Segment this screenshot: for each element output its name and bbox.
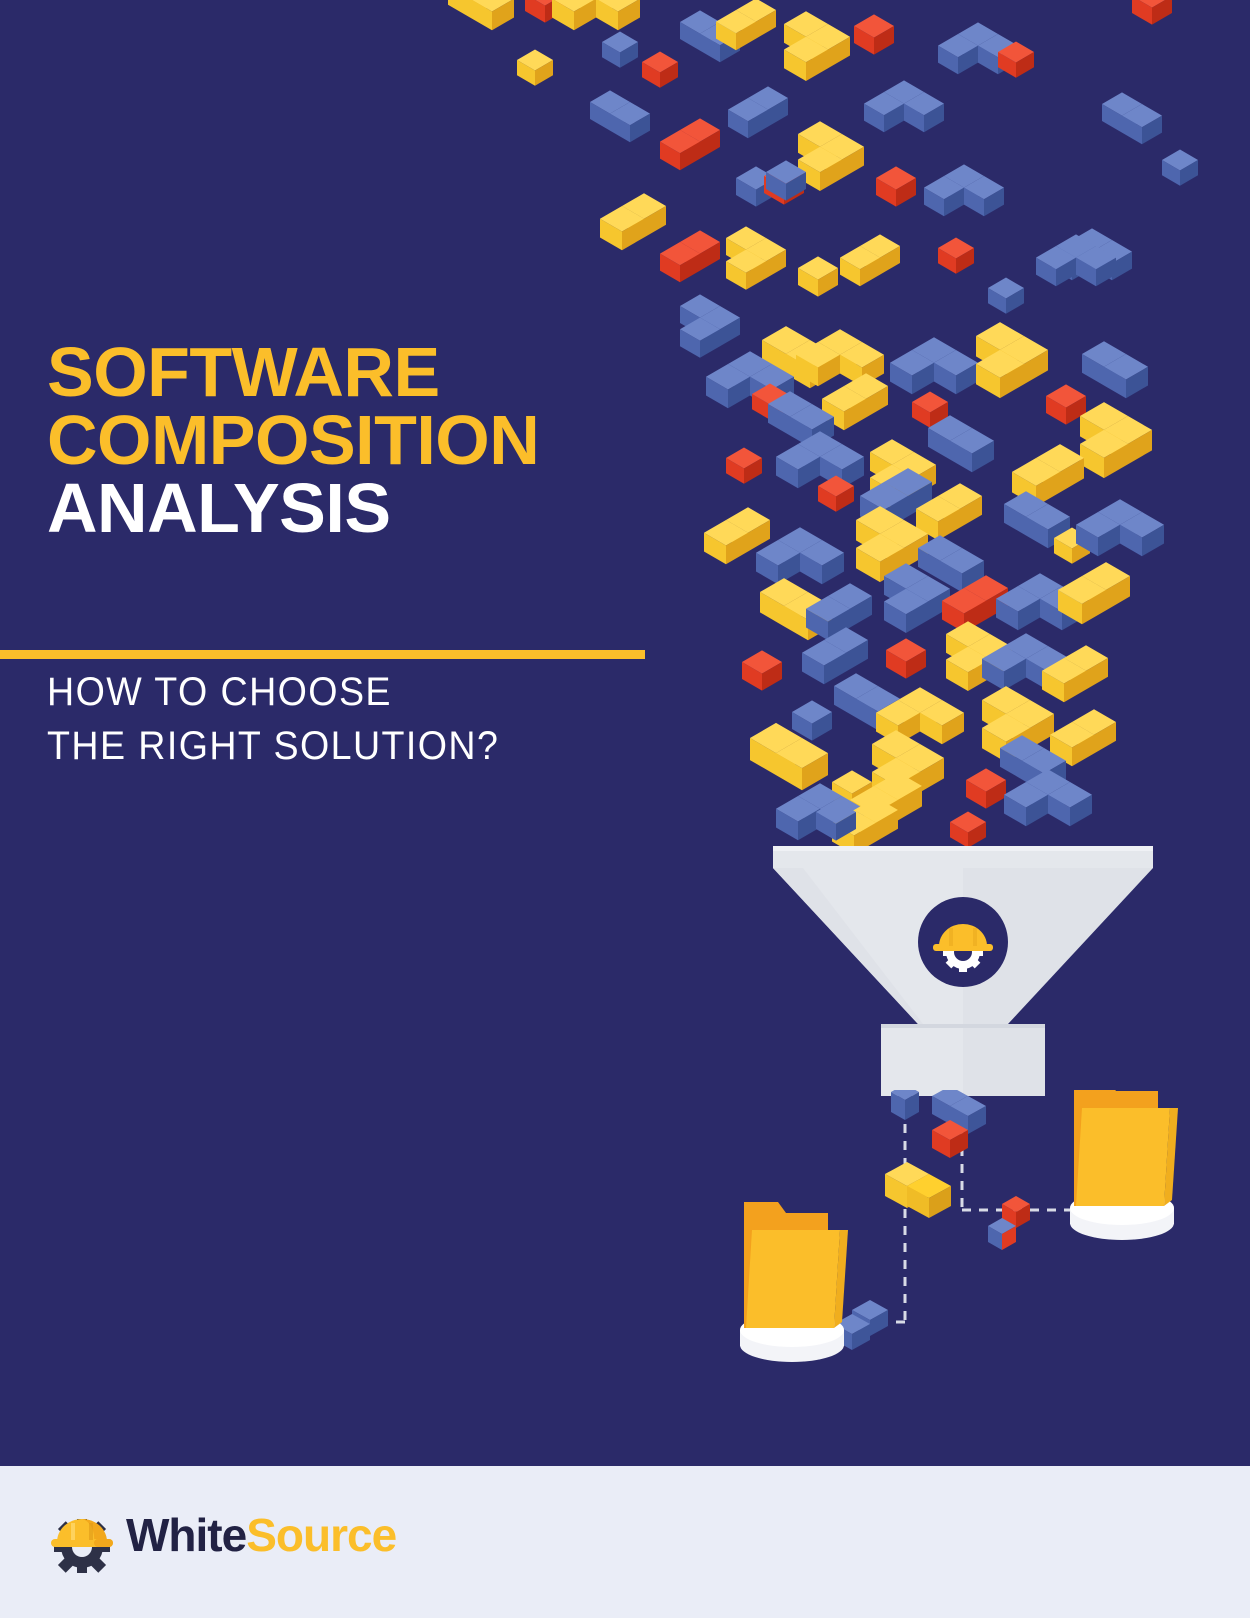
iso-block: [942, 575, 1008, 632]
iso-block: [834, 673, 900, 730]
iso-block: [660, 230, 720, 282]
iso-block: [884, 563, 950, 633]
iso-block: [802, 627, 868, 684]
subtitle-line-2: THE RIGHT SOLUTION?: [47, 719, 649, 773]
iso-block: [706, 351, 794, 408]
iso-block: [928, 415, 994, 472]
iso-block: [1102, 92, 1162, 144]
iso-block: [600, 193, 666, 250]
iso-block: [872, 730, 944, 806]
iso-block: [680, 10, 740, 62]
iso-block: [840, 234, 900, 286]
iso-block: [798, 121, 864, 191]
iso-block: [1004, 491, 1070, 548]
document-page: SOFTWARE COMPOSITION ANALYSIS HOW TO CHO…: [0, 0, 1250, 1618]
iso-block: [976, 322, 1048, 398]
funnel-illustration: [773, 846, 1153, 1096]
iso-block: [1004, 769, 1092, 826]
iso-block: [602, 32, 638, 68]
iso-block: [864, 80, 944, 132]
iso-block: [742, 650, 782, 690]
iso-block: [764, 164, 804, 204]
iso-block: [950, 812, 986, 848]
iso-block: [924, 164, 1004, 216]
iso-block: [982, 686, 1054, 762]
iso-block: [982, 633, 1070, 690]
iso-block: [1050, 709, 1116, 766]
iso-block: [818, 476, 854, 512]
iso-block: [886, 638, 926, 678]
iso-block: [792, 700, 832, 740]
logo-word-white: White: [126, 1509, 246, 1561]
iso-block: [850, 772, 922, 834]
iso-block: [1076, 499, 1164, 556]
iso-block: [938, 22, 1018, 74]
iso-block-red-pair: [988, 1196, 1030, 1250]
iso-block: [726, 448, 762, 484]
iso-block: [1162, 150, 1198, 186]
iso-block: [1000, 735, 1066, 792]
iso-block: [832, 770, 872, 810]
iso-block: [752, 384, 788, 420]
iso-block: [728, 86, 788, 138]
title-divider-rule: [0, 650, 645, 659]
iso-block: [704, 507, 770, 564]
whitesource-logo[interactable]: WhiteSource: [44, 1492, 396, 1578]
folder-left: [740, 1202, 848, 1362]
iso-block: [870, 439, 936, 509]
title-line-composition: COMPOSITION: [47, 406, 687, 474]
iso-block: [660, 118, 720, 170]
iso-block: [1052, 228, 1132, 280]
iso-block: [766, 160, 806, 200]
iso-block: [946, 621, 1012, 691]
iso-block: [1036, 234, 1116, 286]
iso-block: [525, 0, 565, 23]
subtitle-line-1: HOW TO CHOOSE: [47, 665, 649, 719]
iso-block: [716, 0, 776, 50]
logo-wordmark: WhiteSource: [126, 1512, 396, 1558]
iso-block: [822, 373, 888, 430]
iso-block: [876, 166, 916, 206]
iso-block: [988, 278, 1024, 314]
iso-block: [726, 226, 786, 289]
iso-block: [762, 326, 834, 388]
iso-block: [856, 506, 928, 582]
cover-title: SOFTWARE COMPOSITION ANALYSIS: [47, 338, 687, 542]
cover-subtitle: HOW TO CHOOSE THE RIGHT SOLUTION?: [47, 665, 687, 773]
output-flow-diagram: [700, 1090, 1200, 1420]
iso-block-yellow-cluster: [885, 1162, 951, 1218]
iso-block: [796, 329, 884, 386]
iso-block: [938, 238, 974, 274]
iso-block: [890, 337, 978, 394]
cover-hero-panel: SOFTWARE COMPOSITION ANALYSIS HOW TO CHO…: [0, 0, 1250, 1466]
iso-block: [998, 42, 1034, 78]
iso-block: [760, 578, 832, 640]
iso-block: [806, 583, 872, 640]
title-line-analysis: ANALYSIS: [47, 474, 687, 542]
iso-block: [448, 0, 514, 30]
iso-block: [590, 90, 650, 142]
iso-block: [1132, 0, 1172, 25]
iso-block: [966, 768, 1006, 808]
iso-block: [1080, 402, 1152, 478]
iso-block: [552, 0, 640, 30]
iso-block-blue-top: [891, 1090, 919, 1120]
iso-block: [854, 14, 894, 54]
iso-block: [1046, 384, 1086, 424]
iso-block: [680, 294, 740, 357]
iso-block: [860, 468, 932, 530]
iso-block: [768, 391, 834, 448]
iso-block: [1012, 444, 1084, 506]
iso-block: [916, 483, 982, 540]
iso-block: [1082, 341, 1148, 398]
iso-block: [912, 392, 948, 428]
iso-block: [1054, 528, 1090, 564]
iso-block: [816, 800, 856, 840]
iso-block: [1042, 645, 1108, 702]
iso-block: [750, 723, 828, 790]
hardhat-gear-icon: [44, 1497, 120, 1573]
iso-block: [776, 431, 864, 488]
iso-block: [517, 50, 553, 86]
iso-block: [996, 573, 1084, 630]
iso-block: [642, 52, 678, 88]
iso-block: [776, 783, 864, 840]
iso-block: [798, 256, 838, 296]
iso-block-blue-red-cluster: [932, 1090, 986, 1158]
iso-block: [1058, 562, 1130, 624]
logo-word-source: Source: [246, 1509, 396, 1561]
title-line-software: SOFTWARE: [47, 338, 687, 406]
iso-block: [918, 535, 984, 592]
folder-right: [1070, 1090, 1178, 1240]
iso-block: [736, 166, 776, 206]
iso-block: [876, 687, 964, 744]
iso-block: [784, 11, 850, 81]
iso-block: [756, 527, 844, 584]
footer-band: WhiteSource: [0, 1466, 1250, 1618]
